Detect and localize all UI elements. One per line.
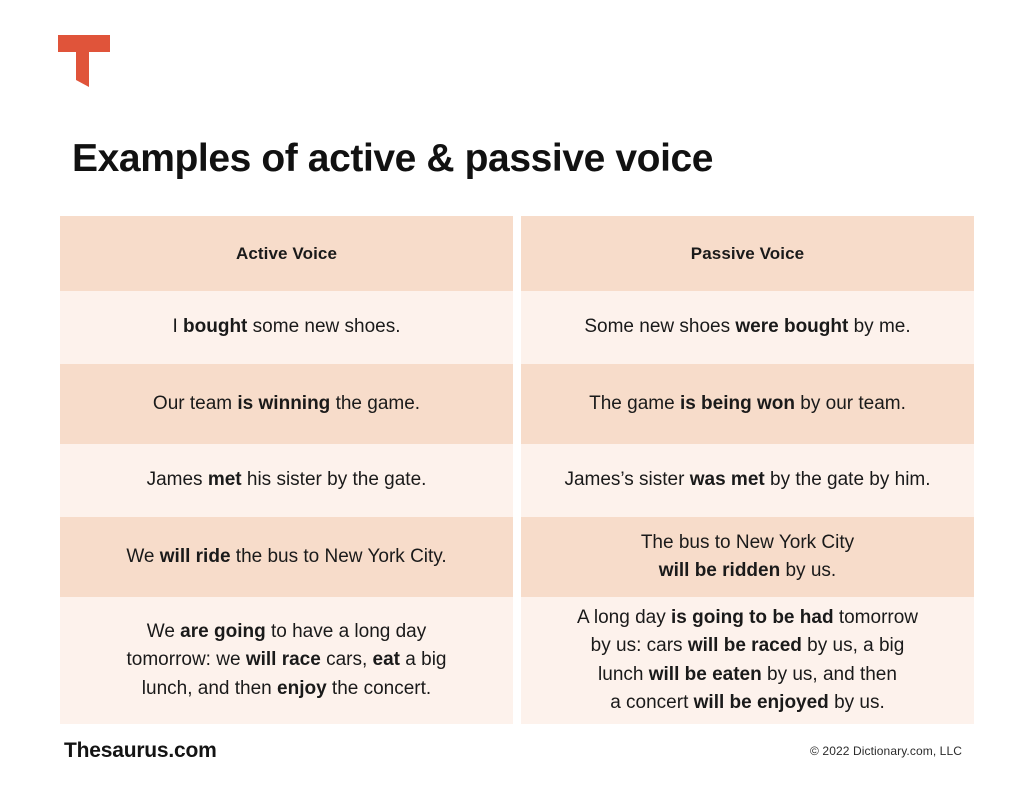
infographic-page: Examples of active & passive voice Activ… — [0, 0, 1024, 795]
active-voice-sentence: We will ride the bus to New York City. — [126, 543, 446, 572]
cell-active-voice: James met his sister by the gate. — [60, 444, 513, 517]
cell-active-voice: Our team is winning the game. — [60, 364, 513, 444]
active-voice-sentence: We are going to have a long daytomorrow:… — [127, 618, 447, 704]
table-row: We will ride the bus to New York City. T… — [60, 517, 974, 597]
active-voice-sentence: James met his sister by the gate. — [147, 466, 427, 495]
cell-active-voice: We are going to have a long daytomorrow:… — [60, 597, 513, 724]
cell-passive-voice: James’s sister was met by the gate by hi… — [521, 444, 974, 517]
passive-voice-sentence: James’s sister was met by the gate by hi… — [564, 466, 930, 495]
column-header-active-voice-label: Active Voice — [236, 244, 337, 264]
cell-passive-voice: The game is being won by our team. — [521, 364, 974, 444]
column-header-passive-voice: Passive Voice — [521, 216, 974, 291]
table-row: I bought some new shoes. Some new shoes … — [60, 291, 974, 364]
table-row: James met his sister by the gate. James’… — [60, 444, 974, 517]
column-header-passive-voice-label: Passive Voice — [691, 244, 804, 264]
active-voice-sentence: Our team is winning the game. — [153, 390, 420, 419]
passive-voice-sentence: A long day is going to be had tomorrowby… — [577, 604, 918, 718]
active-voice-sentence: I bought some new shoes. — [172, 313, 400, 342]
table-row: We are going to have a long daytomorrow:… — [60, 597, 974, 724]
cell-passive-voice: The bus to New York Citywill be ridden b… — [521, 517, 974, 597]
passive-voice-sentence: The game is being won by our team. — [589, 390, 906, 419]
cell-passive-voice: A long day is going to be had tomorrowby… — [521, 597, 974, 724]
cell-active-voice: I bought some new shoes. — [60, 291, 513, 364]
cell-active-voice: We will ride the bus to New York City. — [60, 517, 513, 597]
page-title: Examples of active & passive voice — [72, 136, 713, 183]
cell-passive-voice: Some new shoes were bought by me. — [521, 291, 974, 364]
passive-voice-sentence: Some new shoes were bought by me. — [584, 313, 910, 342]
table-header-row: Active Voice Passive Voice — [60, 216, 974, 291]
footer-brand-name: Thesaurus.com — [64, 739, 217, 763]
table-row: Our team is winning the game. The game i… — [60, 364, 974, 444]
voice-examples-table: Active Voice Passive Voice I bought some… — [60, 216, 974, 724]
passive-voice-sentence: The bus to New York Citywill be ridden b… — [641, 529, 854, 586]
thesaurus-t-logo-icon — [56, 33, 112, 89]
footer-copyright: © 2022 Dictionary.com, LLC — [810, 744, 962, 758]
column-header-active-voice: Active Voice — [60, 216, 513, 291]
